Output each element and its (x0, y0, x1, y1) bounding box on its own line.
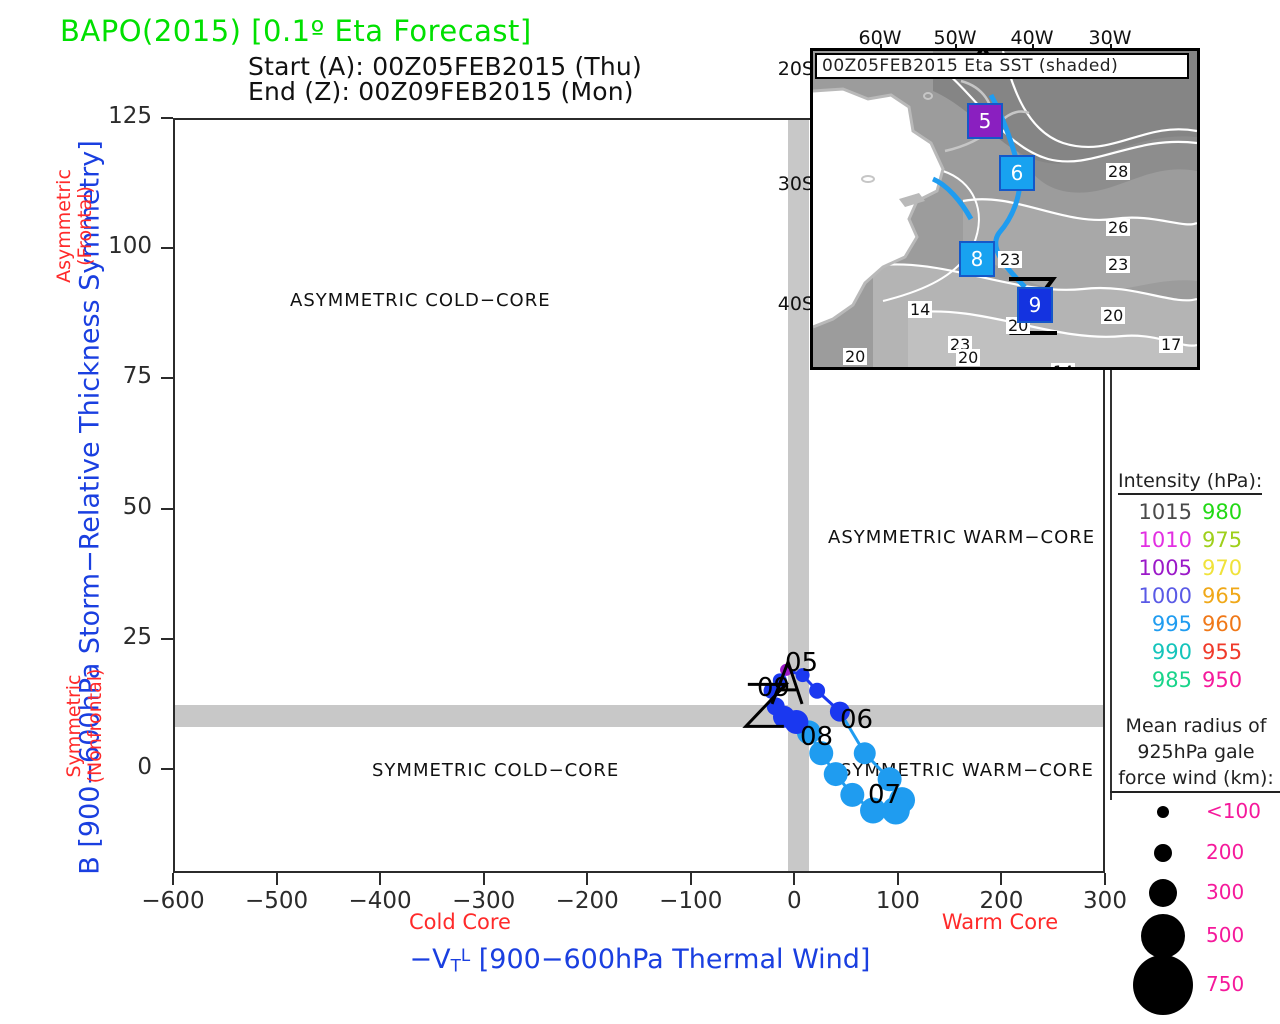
radius-legend-label: 300 (1206, 880, 1280, 904)
intensity-legend-value: 965 (1202, 584, 1250, 609)
y-tick (161, 117, 173, 119)
radius-legend-dot (1149, 879, 1177, 907)
intensity-legend-value: 990 (1130, 640, 1192, 665)
quadrant-label: ASYMMETRIC WARM−CORE (828, 527, 1095, 548)
symmetric-label: Symmetric (64, 636, 85, 816)
x-tick (897, 873, 899, 885)
sst-contour-label: 26 (1106, 219, 1130, 236)
sst-contour-label: 14 (1051, 363, 1075, 370)
sst-contour-label: 23 (998, 251, 1022, 268)
intensity-legend-value: 1000 (1130, 584, 1192, 609)
map-track-marker[interactable]: 6 (999, 155, 1035, 191)
y-tick-label: 125 (92, 103, 152, 129)
radius-legend-label: 500 (1206, 923, 1280, 947)
x-axis-title-rest: [900−600hPa Thermal Wind] (470, 944, 870, 975)
x-tick-label: 0 (739, 888, 849, 914)
radius-legend-dot (1157, 806, 1169, 818)
map-lat-label: 40S (770, 293, 814, 315)
intensity-legend-value: 1015 (1130, 500, 1192, 525)
y-tick-label: 75 (92, 363, 152, 389)
map-track-marker[interactable]: 9 (1017, 287, 1053, 323)
x-tick-label: −600 (118, 888, 228, 914)
y-tick (161, 247, 173, 249)
radius-legend-dot (1133, 955, 1193, 1015)
radius-legend-label: 750 (1206, 972, 1280, 996)
y-tick-label: 25 (92, 624, 152, 650)
radius-legend-dot (1154, 844, 1172, 862)
x-tick (1104, 873, 1106, 885)
intensity-legend-title: Intensity (hPa): (1118, 470, 1262, 495)
x-axis-title-sup: L (461, 945, 470, 965)
x-axis-title-sub: T (451, 956, 461, 976)
x-tick (586, 873, 588, 885)
x-tick (276, 873, 278, 885)
intensity-legend-value: 950 (1202, 668, 1250, 693)
x-tick (690, 873, 692, 885)
y-tick-label: 50 (92, 494, 152, 520)
intensity-legend-value: 955 (1202, 640, 1250, 665)
map-lat-label: 20S (770, 58, 814, 80)
y-tick (161, 377, 173, 379)
radius-legend-underline (1110, 791, 1280, 793)
x-axis-title: −VTL [900−600hPa Thermal Wind] (175, 944, 1105, 976)
radius-legend-title: Mean radius of 925hPa gale force wind (k… (1112, 713, 1280, 791)
x-tick (379, 873, 381, 885)
radius-title-line3: force wind (km): (1112, 765, 1280, 791)
y-tick (161, 638, 173, 640)
track-day-label: 08 (800, 722, 833, 752)
x-tick (1000, 873, 1002, 885)
x-tick-label: −200 (532, 888, 642, 914)
intensity-legend-value: 1010 (1130, 528, 1192, 553)
map-track-marker[interactable]: 5 (967, 103, 1003, 139)
quadrant-label: SYMMETRIC WARM−CORE (840, 760, 1094, 781)
radius-title-line2: 925hPa gale (1112, 739, 1280, 765)
intensity-legend-value: 960 (1202, 612, 1250, 637)
radius-legend-label: <100 (1206, 799, 1280, 823)
radius-legend-dot (1141, 914, 1185, 958)
x-tick-label: −300 (429, 888, 539, 914)
x-tick-label: −400 (325, 888, 435, 914)
intensity-legend-value: 980 (1202, 500, 1250, 525)
intensity-legend-value: 995 (1130, 612, 1192, 637)
intensity-legend-value: 970 (1202, 556, 1250, 581)
sst-contour-label: 20 (1101, 307, 1125, 324)
intensity-legend-value: 1005 (1130, 556, 1192, 581)
x-tick (172, 873, 174, 885)
radius-title-line1: Mean radius of (1112, 713, 1280, 739)
x-tick-label: 100 (843, 888, 953, 914)
intensity-legend-value: 985 (1130, 668, 1192, 693)
y-tick (161, 508, 173, 510)
map-lat-label: 30S (770, 173, 814, 195)
sst-contour-label: 14 (908, 301, 932, 318)
sst-contour-label: 20 (956, 349, 980, 366)
sst-contour-label: 23 (1106, 256, 1130, 273)
x-tick-label: −500 (222, 888, 332, 914)
sst-contour-label: 28 (1106, 163, 1130, 180)
map-caption: 00Z05FEB2015 Eta SST (shaded) (815, 53, 1189, 79)
track-day-label: 09 (757, 673, 790, 703)
y-axis-upper-annotation: Asymmetric (Frontal) (54, 146, 96, 306)
inset-sst-map[interactable]: 00Z05FEB2015 Eta SST (shaded) 2826232320… (810, 48, 1200, 370)
zero-b-band (175, 705, 1103, 727)
map-track-marker[interactable]: 8 (959, 241, 995, 277)
zero-vt-band (788, 120, 809, 871)
forecast-end-label: End (Z): 00Z09FEB2015 (Mon) (248, 77, 634, 106)
x-tick (483, 873, 485, 885)
sst-contour-label: 20 (843, 348, 867, 365)
page-title: BAPO(2015) [0.1º Eta Forecast] (60, 14, 532, 48)
quadrant-label: ASYMMETRIC COLD−CORE (290, 290, 551, 311)
y-tick (161, 768, 173, 770)
y-tick-label: 0 (92, 754, 152, 780)
track-day-label: 07 (868, 780, 901, 810)
x-tick-label: −100 (636, 888, 746, 914)
y-tick-label: 100 (92, 233, 152, 259)
quadrant-label: SYMMETRIC COLD−CORE (372, 760, 619, 781)
sst-shading-svg (813, 51, 1197, 367)
x-tick-label: 200 (946, 888, 1056, 914)
x-tick (793, 873, 795, 885)
intensity-legend-value: 975 (1202, 528, 1250, 553)
radius-legend-label: 200 (1206, 840, 1280, 864)
nonfrontal-label: (Nonfrontal) (85, 636, 106, 816)
track-day-label: 06 (840, 705, 873, 735)
frontal-label: (Frontal) (75, 146, 96, 306)
y-axis-lower-annotation: Symmetric (Nonfrontal) (64, 636, 106, 816)
asymmetric-label: Asymmetric (54, 146, 75, 306)
x-tick-label: 300 (1050, 888, 1160, 914)
x-axis-title-prefix: −V (410, 944, 451, 975)
sst-contour-label: 17 (1159, 336, 1183, 353)
